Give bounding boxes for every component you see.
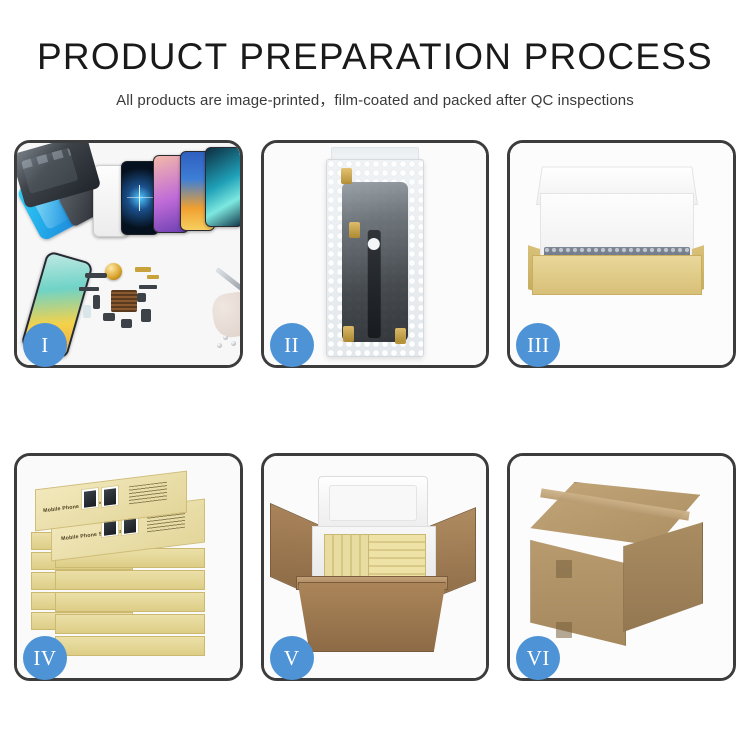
panel-badge-6: VI [516,636,560,680]
process-panel-5: V [261,453,490,681]
flex-cable-icon [79,287,99,291]
gold-contact-icon [395,328,406,344]
page-subtitle: All products are image-printed，film-coat… [0,89,750,110]
tweezers-icon [215,267,240,292]
gold-contact-icon [341,168,352,184]
screw-icon [217,343,222,348]
stacked-box [55,636,205,656]
screw-icon [231,341,236,346]
flex-cable-icon [139,285,157,289]
carton-tab-icon [556,560,572,578]
ic-chip-grid-icon [111,290,137,312]
stacked-box [55,592,205,612]
gold-contact-icon [349,222,360,238]
small-part-icon [83,305,91,318]
process-panel-grid: I II [14,140,736,692]
flex-cable-icon [135,267,151,272]
process-panel-2: II [261,140,490,368]
panel-badge-1: I [23,323,67,367]
panel-badge-5: V [270,636,314,680]
panel-badge-3: III [516,323,560,367]
carton-body-icon [298,582,446,652]
hand-icon [210,291,240,340]
process-panel-6: VI [507,453,736,681]
connector-part-icon [85,273,107,278]
screw-icon [223,335,228,340]
carton-front-face-icon [530,540,626,646]
small-part-icon [103,313,115,321]
small-part-icon [121,319,132,328]
camera-hole-icon [368,238,380,250]
header: PRODUCT PREPARATION PROCESS All products… [0,0,750,110]
panel-badge-4: IV [23,636,67,680]
small-part-icon [141,309,151,322]
small-part-icon [137,293,146,302]
page-title: PRODUCT PREPARATION PROCESS [0,38,750,77]
process-panel-1: I [14,140,243,368]
stacked-box [55,614,205,634]
flex-cable-icon [147,275,159,279]
carton-tab-icon [556,622,572,638]
box-window-right [101,485,119,508]
process-panel-3: III [507,140,736,368]
panel-badge-2: II [270,323,314,367]
bubble-wrap-bag-icon [326,159,424,357]
product-preparation-process-page: PRODUCT PREPARATION PROCESS All products… [0,0,750,750]
teal-screen-icon [205,147,240,227]
process-panel-4: Mobile Phone Spare Parts Mobile Phone Sp… [14,453,243,681]
gold-component-icon [105,263,122,280]
gold-contact-icon [343,326,354,342]
small-part-icon [93,295,100,309]
box-front-kraft-icon [532,255,702,295]
stacked-box [55,570,205,590]
foam-lid-icon [318,476,428,530]
kraft-boxes-inside-icon [368,534,426,580]
box-window-left [81,487,99,510]
